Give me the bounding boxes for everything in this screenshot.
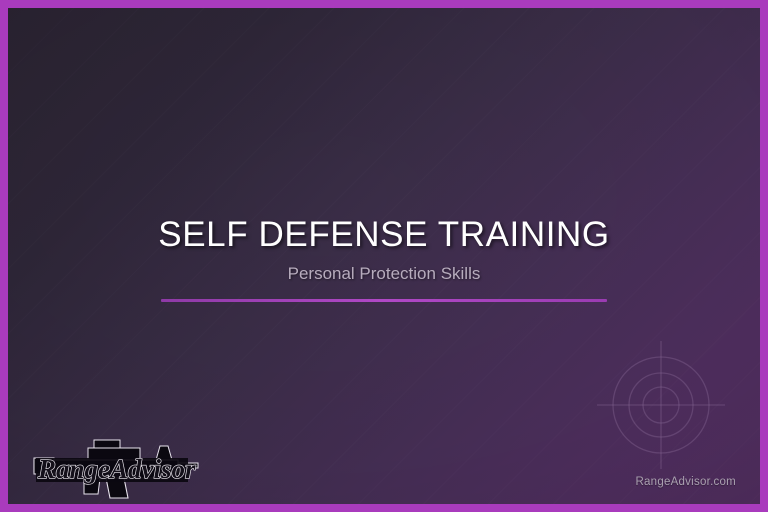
title-block: SELF DEFENSE TRAINING Personal Protectio… — [8, 214, 760, 302]
page-title: SELF DEFENSE TRAINING — [8, 214, 760, 256]
site-watermark: RangeAdvisor.com — [635, 476, 736, 488]
presentation-slide: SELF DEFENSE TRAINING Personal Protectio… — [0, 0, 768, 512]
brand-wordmark-text: RangeAdvisor — [37, 454, 196, 484]
brand-wordmark: RangeAdvisor — [36, 454, 196, 484]
title-divider — [161, 299, 607, 302]
brand-logo: RangeAdvisor — [28, 432, 204, 502]
page-subtitle: Personal Protection Skills — [8, 263, 760, 284]
